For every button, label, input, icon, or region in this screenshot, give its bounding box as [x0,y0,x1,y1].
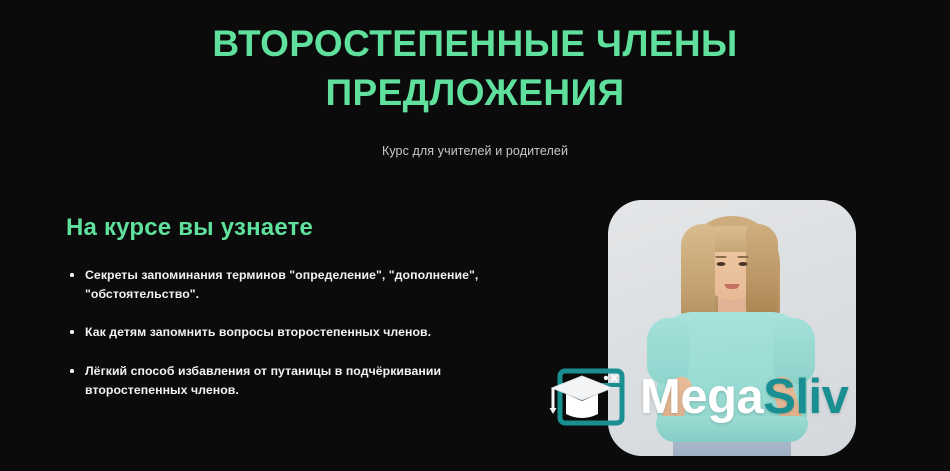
presenter-photo-card [608,200,856,456]
eye-right [739,262,748,266]
list-item: Как детям запомнить вопросы второстепенн… [66,323,536,342]
presenter-photo [608,200,856,456]
section-heading: На курсе вы узнаете [66,214,536,242]
sleeve-left [647,318,689,384]
sleeve-right [773,318,815,384]
list-item: Секреты запоминания терминов "определени… [66,266,536,303]
benefits-list: Секреты запоминания терминов "определени… [66,266,536,399]
slide-root: ВТОРОСТЕПЕННЫЕ ЧЛЕНЫ ПРЕДЛОЖЕНИЯ Курс дл… [0,0,950,471]
hair-right [746,224,778,320]
page-title: ВТОРОСТЕПЕННЫЕ ЧЛЕНЫ ПРЕДЛОЖЕНИЯ [0,20,950,118]
page-subtitle: Курс для учителей и родителей [0,144,950,158]
content-column: На курсе вы узнаете Секреты запоминания … [66,214,536,399]
shirt-hem [656,416,808,442]
eye-left [717,262,726,266]
header: ВТОРОСТЕПЕННЫЕ ЧЛЕНЫ ПРЕДЛОЖЕНИЯ Курс дл… [0,20,950,158]
list-item: Лёгкий способ избавления от путаницы в п… [66,362,536,399]
